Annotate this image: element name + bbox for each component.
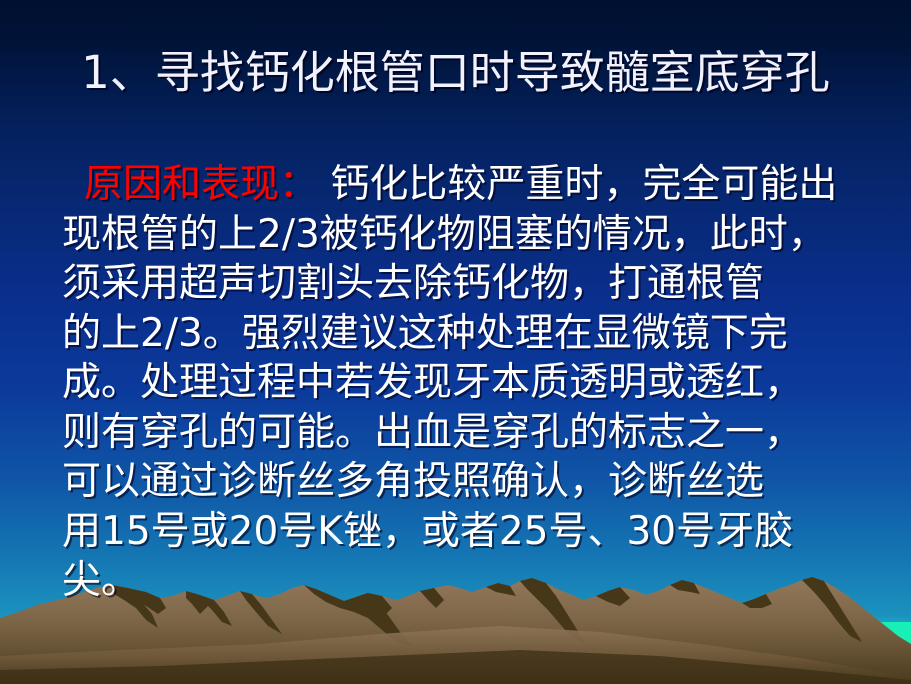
slide-title: 1、寻找钙化根管口时导致髓室底穿孔 [0,44,911,102]
body-line: 须采用超声切割头去除钙化物，打通根管 [62,259,862,309]
body-line: 成。处理过程中若发现牙本质透明或透红， [62,358,862,408]
body-line: 尖。 [62,556,862,606]
body-line: 则有穿孔的可能。出血是穿孔的标志之一， [62,408,862,458]
presentation-slide: 1、寻找钙化根管口时导致髓室底穿孔 原因和表现： 钙化比较严重时，完全可能出 现… [0,0,911,684]
body-line-text: 成。处理过程中若发现牙本质透明或透红， [62,360,803,405]
body-line-text: 则有穿孔的可能。出血是穿孔的标志之一， [62,410,803,455]
body-line-text: 钙化比较严重时，完全可能出 [318,162,837,207]
body-accent-label: 原因和表现： [84,162,318,207]
body-line-text: 可以通过诊断丝多角投照确认，诊断丝选 [62,459,764,504]
body-line: 现根管的上2/3被钙化物阻塞的情况，此时， [62,210,862,260]
body-line-text: 的上2/3。强烈建议这种处理在显微镜下完 [62,311,788,356]
body-line: 原因和表现： 钙化比较严重时，完全可能出 [62,160,862,210]
body-line: 用15号或20号K锉，或者25号、30号牙胶 [62,507,862,557]
body-line: 的上2/3。强烈建议这种处理在显微镜下完 [62,309,862,359]
body-line: 可以通过诊断丝多角投照确认，诊断丝选 [62,457,862,507]
body-line-text: 尖。 [62,558,140,603]
body-line-text: 须采用超声切割头去除钙化物，打通根管 [62,261,764,306]
slide-body: 原因和表现： 钙化比较严重时，完全可能出 现根管的上2/3被钙化物阻塞的情况，此… [62,160,862,606]
body-line-text: 现根管的上2/3被钙化物阻塞的情况，此时， [62,212,827,257]
body-line-text: 用15号或20号K锉，或者25号、30号牙胶 [62,509,793,554]
